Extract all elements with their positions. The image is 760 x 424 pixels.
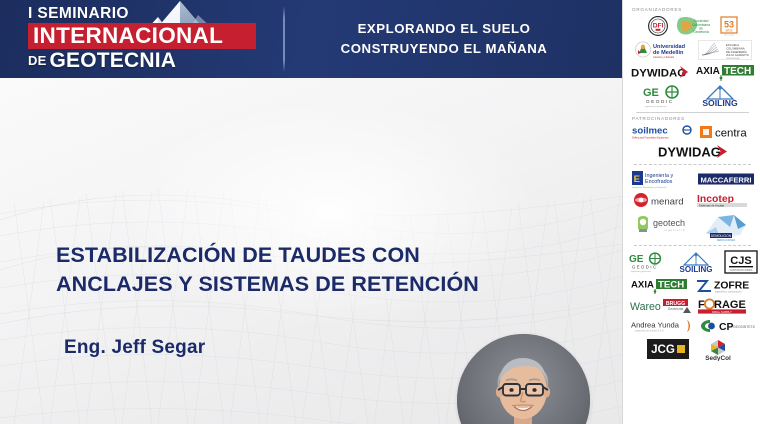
section-divider bbox=[634, 245, 751, 246]
title-line-2: ANCLAJES Y SISTEMAS DE RETENCIÓN bbox=[56, 270, 486, 299]
demolicion-logo-icon: DEMOLICION DEMOLICIONES bbox=[700, 211, 752, 241]
svg-text:AXIA: AXIA bbox=[631, 279, 654, 290]
avatar bbox=[457, 334, 590, 424]
logo-maccaferri: MACCAFERRI bbox=[698, 171, 754, 187]
svg-text:JULIO GARAVITO: JULIO GARAVITO bbox=[726, 53, 750, 57]
maccaferri-logo-icon: MACCAFERRI bbox=[698, 171, 754, 187]
logo-forage: F RAGE DRILL SUPPLY bbox=[698, 297, 756, 315]
logo-row: geotech ingeniería DEMOLICION DEMOLICION… bbox=[630, 211, 755, 241]
svg-text:DYWIDAG: DYWIDAG bbox=[631, 68, 686, 80]
svg-text:Ingeniería, Encofrados y Geote: Ingeniería, Encofrados y Geotecnia bbox=[632, 186, 667, 189]
svg-text:Sistemas de Anclaje: Sistemas de Anclaje bbox=[699, 203, 725, 207]
soiling-logo-icon: SOILING bbox=[695, 84, 745, 108]
tagline-line-1: EXPLORANDO EL SUELO bbox=[280, 19, 608, 39]
andrea-yunda-logo-icon: Andrea Yunda Ingeniería de Suelos S.A.S bbox=[631, 318, 693, 334]
dywidag-logo-icon: DYWIDAG bbox=[657, 143, 729, 160]
centra-logo-icon: centra bbox=[700, 124, 754, 140]
incotep-logo-icon: Incotep Sistemas de Anclaje bbox=[697, 192, 753, 208]
svg-text:Wareo: Wareo bbox=[630, 301, 661, 313]
slide-main-area: I SEMINARIO INTERNACIONAL DEGEOTECNIA EX… bbox=[0, 0, 622, 424]
logo-row: DYWIDAG AXIA TECH bbox=[630, 63, 755, 81]
logo-de-prefix: DE bbox=[28, 53, 46, 68]
sponsors-section-title: PATROCINADORES bbox=[632, 116, 755, 121]
logo-row: DFI Sociedad Colombiana de Geotecnia 53 bbox=[630, 15, 755, 37]
presentation-slide: I SEMINARIO INTERNACIONAL DEGEOTECNIA EX… bbox=[0, 0, 760, 424]
svg-text:DRILL SUPPLY: DRILL SUPPLY bbox=[712, 310, 732, 314]
svg-text:AXIA: AXIA bbox=[696, 66, 720, 77]
svg-text:UNIVERSIDAD: UNIVERSIDAD bbox=[726, 57, 740, 60]
svg-text:TECH: TECH bbox=[658, 279, 684, 290]
svg-text:ingeniería y construcción: ingeniería y construcción bbox=[715, 291, 742, 294]
sedycol-logo-icon: SedyCol bbox=[696, 337, 740, 361]
organizers-section-title: ORGANIZADORES bbox=[632, 7, 755, 12]
svg-text:ingeniería: ingeniería bbox=[664, 228, 685, 232]
svg-text:GE: GE bbox=[629, 254, 644, 265]
logo-row: GE GEODIC ingeniería y geotecnia SOILING bbox=[630, 84, 755, 108]
ingenieria-encofrados-logo-icon: E Ingeniería y Encofrados Ingeniería, En… bbox=[632, 169, 692, 189]
logo-demolicion: DEMOLICION DEMOLICIONES bbox=[700, 211, 752, 241]
logo-53-anos: 53 años 1971-2024 bbox=[719, 15, 739, 37]
svg-text:GE: GE bbox=[643, 87, 659, 99]
wareo-brugg-logo-icon: Wareo BRUGG Geotecnia bbox=[630, 297, 692, 315]
event-tagline: EXPLORANDO EL SUELO CONSTRUYENDO EL MAÑA… bbox=[262, 19, 622, 58]
menard-logo-icon: menard bbox=[633, 192, 691, 208]
logo-ingenieria-encofrados: E Ingeniería y Encofrados Ingeniería, En… bbox=[632, 169, 692, 189]
logo-centra: centra bbox=[700, 124, 754, 140]
jcg-logo-icon: JCG bbox=[646, 338, 690, 360]
logo-geodic-sponsor: GE GEODIC ingeniería y geotecnia bbox=[628, 251, 668, 273]
logo-universidad-de-medellin: Universidad de Medellín Ciencia y Libert… bbox=[634, 40, 692, 60]
svg-text:E: E bbox=[633, 174, 640, 185]
dywidag-logo-icon: DYWIDAG bbox=[630, 64, 690, 80]
logo-andrea-yunda: Andrea Yunda Ingeniería de Suelos S.A.S bbox=[631, 318, 693, 334]
cjs-logo-icon: CJS CONSTRUCCIONES bbox=[724, 250, 758, 274]
svg-text:CONSTRUCCIONES: CONSTRUCCIONES bbox=[729, 269, 752, 272]
axiatech-logo-icon: AXIA TECH bbox=[696, 63, 756, 81]
svg-text:Ingeniería de Suelos S.A.S: Ingeniería de Suelos S.A.S bbox=[635, 330, 664, 333]
page-title: ESTABILIZACIÓN DE TAUDES CON ANCLAJES Y … bbox=[56, 241, 486, 298]
logo-sociedad-colombiana-geotecnia: Sociedad Colombiana de Geotecnia bbox=[675, 15, 713, 37]
logo-escuela-colombiana-ingenieria: ESCUELA COLOMBIANA DE INGENIERÍA JULIO G… bbox=[698, 40, 752, 60]
logo-row: Wareo BRUGG Geotecnia F RAGE DRILL SUPPL… bbox=[630, 297, 755, 315]
svg-text:CP: CP bbox=[719, 322, 734, 333]
logo-soiling-sponsor: SOILING bbox=[674, 251, 718, 273]
geotech-logo-icon: geotech ingeniería bbox=[634, 213, 694, 239]
svg-text:JCG: JCG bbox=[651, 343, 675, 356]
logo-geotech: geotech ingeniería bbox=[634, 213, 694, 239]
header-divider bbox=[283, 6, 285, 72]
logo-soilmec: soilmec Drilling and Foundation Equipmen… bbox=[632, 124, 694, 140]
logo-sedycol: SedyCol bbox=[696, 337, 740, 361]
dfi-logo-icon: DFI bbox=[647, 15, 669, 37]
logo-row: DYWIDAG bbox=[630, 143, 755, 160]
logo-dfi: DFI bbox=[647, 15, 669, 37]
svg-text:1971-2024: 1971-2024 bbox=[723, 35, 734, 37]
section-divider bbox=[636, 112, 749, 113]
logo-cp-geosinteticos: CP GEOSINTETICOS bbox=[699, 318, 755, 334]
svg-text:GEODIC: GEODIC bbox=[646, 99, 674, 104]
svg-text:SedyCol: SedyCol bbox=[705, 355, 731, 361]
cp-geosinteticos-logo-icon: CP GEOSINTETICOS bbox=[699, 318, 755, 334]
svg-text:SOILING: SOILING bbox=[679, 265, 712, 273]
svg-text:años: años bbox=[725, 29, 732, 33]
svg-text:soilmec: soilmec bbox=[632, 126, 668, 137]
tagline-line-2: CONSTRUYENDO EL MAÑANA bbox=[280, 39, 608, 59]
svg-text:GEOSINTETICOS: GEOSINTETICOS bbox=[733, 325, 755, 329]
logo-row: menard Incotep Sistemas de Anclaje bbox=[630, 192, 755, 208]
53-anos-logo-icon: 53 años 1971-2024 bbox=[719, 15, 739, 37]
svg-text:menard: menard bbox=[651, 196, 684, 207]
logo-row: Universidad de Medellín Ciencia y Libert… bbox=[630, 40, 755, 60]
logo-wareo-brugg: Wareo BRUGG Geotecnia bbox=[630, 297, 692, 315]
svg-text:centra: centra bbox=[715, 127, 747, 139]
svg-text:F: F bbox=[698, 299, 705, 311]
logo-row: E Ingeniería y Encofrados Ingeniería, En… bbox=[630, 169, 755, 189]
speaker-portrait-illustration bbox=[457, 334, 590, 424]
escuela-colombiana-ingenieria-logo-icon: ESCUELA COLOMBIANA DE INGENIERÍA JULIO G… bbox=[698, 40, 752, 60]
sociedad-colombiana-geotecnia-logo-icon: Sociedad Colombiana de Geotecnia bbox=[675, 15, 713, 37]
axiatech-logo-icon: AXIA TECH bbox=[631, 277, 689, 294]
svg-text:geotech: geotech bbox=[653, 218, 685, 228]
logo-cjs: CJS CONSTRUCCIONES bbox=[724, 250, 758, 274]
svg-text:Encofrados: Encofrados bbox=[645, 179, 673, 185]
logo-line-internacional: INTERNACIONAL bbox=[28, 23, 256, 49]
svg-text:GEODIC: GEODIC bbox=[632, 264, 658, 269]
logo-jcg: JCG bbox=[646, 338, 690, 360]
forage-logo-icon: F RAGE DRILL SUPPLY bbox=[698, 297, 756, 315]
logo-menard: menard bbox=[633, 192, 691, 208]
svg-text:DEMOLICION: DEMOLICION bbox=[710, 234, 731, 238]
logo-geodic-organizer: GE GEODIC ingeniería y geotecnia bbox=[641, 84, 689, 108]
svg-text:DFI: DFI bbox=[652, 23, 663, 30]
speaker-name: Eng. Jeff Segar bbox=[64, 337, 205, 359]
geodic-logo-icon: GE GEODIC ingeniería y geotecnia bbox=[628, 251, 668, 273]
logo-geotecnia-word: GEOTECNIA bbox=[49, 49, 176, 72]
title-line-1: ESTABILIZACIÓN DE TAUDES CON bbox=[56, 241, 486, 270]
geodic-logo-icon: GE GEODIC ingeniería y geotecnia bbox=[641, 84, 689, 108]
svg-text:SOILING: SOILING bbox=[702, 98, 738, 108]
logo-dywidag-organizer: DYWIDAG bbox=[630, 64, 690, 80]
logo-line-seminario: I SEMINARIO bbox=[28, 6, 262, 22]
logo-row: GE GEODIC ingeniería y geotecnia SOILING bbox=[630, 250, 755, 274]
svg-text:CJS: CJS bbox=[730, 255, 751, 267]
logo-axiatech-sponsor: AXIA TECH bbox=[631, 277, 689, 294]
universidad-de-medellin-logo-icon: Universidad de Medellín Ciencia y Libert… bbox=[634, 40, 692, 60]
svg-text:ingeniería y geotecnia: ingeniería y geotecnia bbox=[631, 270, 651, 273]
logo-soiling-organizer: SOILING bbox=[695, 84, 745, 108]
logo-axiatech-organizer: AXIA TECH bbox=[696, 63, 756, 81]
slide-body: ESTABILIZACIÓN DE TAUDES CON ANCLAJES Y … bbox=[0, 78, 622, 424]
logo-dywidag-sponsor: DYWIDAG bbox=[657, 143, 729, 160]
svg-text:MACCAFERRI: MACCAFERRI bbox=[700, 175, 751, 184]
svg-text:Geotecnia: Geotecnia bbox=[667, 307, 683, 311]
svg-text:DYWIDAG: DYWIDAG bbox=[658, 145, 721, 160]
zofre-logo-icon: ZOFRE ingeniería y construcción bbox=[695, 277, 755, 294]
svg-text:Andrea Yunda: Andrea Yunda bbox=[631, 320, 680, 329]
soilmec-logo-icon: soilmec Drilling and Foundation Equipmen… bbox=[632, 124, 694, 140]
svg-text:Ciencia y Libertad: Ciencia y Libertad bbox=[653, 55, 674, 59]
logo-row: AXIA TECH ZOFRE ingeniería y construcció… bbox=[630, 277, 755, 294]
logo-zofre: ZOFRE ingeniería y construcción bbox=[695, 277, 755, 294]
logo-incotep: Incotep Sistemas de Anclaje bbox=[697, 192, 753, 208]
svg-text:Drilling and Foundation Equipm: Drilling and Foundation Equipment bbox=[632, 136, 669, 139]
logo-row: JCG SedyCol bbox=[630, 337, 755, 361]
logo-line-geotecnia: DEGEOTECNIA bbox=[28, 50, 262, 72]
section-divider bbox=[634, 164, 751, 165]
logo-row: soilmec Drilling and Foundation Equipmen… bbox=[630, 124, 755, 140]
sponsors-sidebar: ORGANIZADORES DFI Sociedad Colombiana de bbox=[622, 0, 760, 424]
soiling-logo-icon: SOILING bbox=[674, 251, 718, 273]
svg-text:DEMOLICIONES: DEMOLICIONES bbox=[716, 239, 735, 241]
svg-text:TECH: TECH bbox=[724, 66, 751, 77]
event-logo: I SEMINARIO INTERNACIONAL DEGEOTECNIA bbox=[0, 0, 262, 78]
svg-text:Geotecnia: Geotecnia bbox=[693, 30, 709, 34]
svg-text:ingeniería y geotecnia: ingeniería y geotecnia bbox=[645, 105, 667, 108]
slide-header: I SEMINARIO INTERNACIONAL DEGEOTECNIA EX… bbox=[0, 0, 622, 78]
logo-row: Andrea Yunda Ingeniería de Suelos S.A.S … bbox=[630, 318, 755, 334]
